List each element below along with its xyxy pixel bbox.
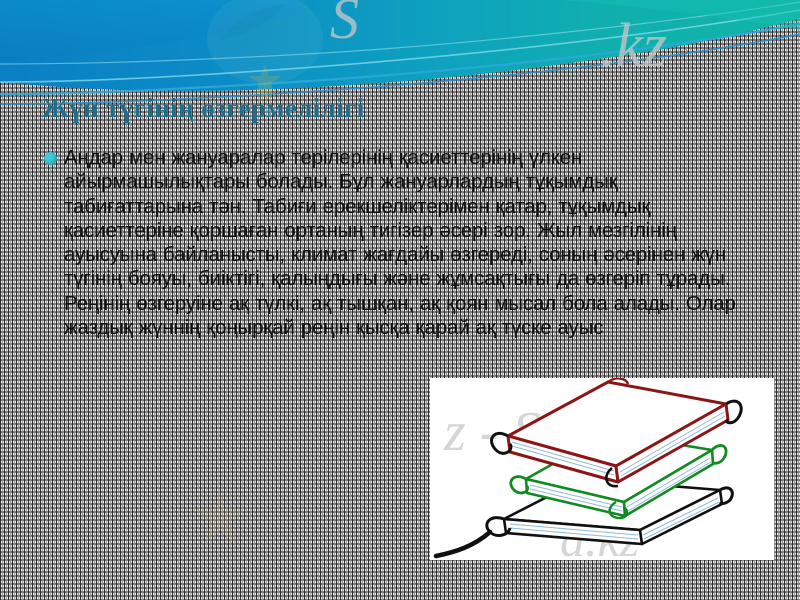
bullet-marker-icon bbox=[44, 152, 57, 165]
books-illustration: z - Stud.kz d.kz bbox=[430, 378, 774, 560]
books-illustration-graphic: z - Stud.kz d.kz bbox=[430, 378, 774, 560]
slide-body-text: Аңдар мен жануаралар терілерінің қасиетт… bbox=[64, 146, 756, 340]
slide-body-bullet-item: Аңдар мен жануаралар терілерінің қасиетт… bbox=[44, 146, 756, 340]
presentation-slide: .kz S Жүн түгінің өзгермелілігі Аңдар ме… bbox=[0, 0, 800, 600]
slide-title: Жүн түгінің өзгермелілігі bbox=[42, 93, 365, 124]
